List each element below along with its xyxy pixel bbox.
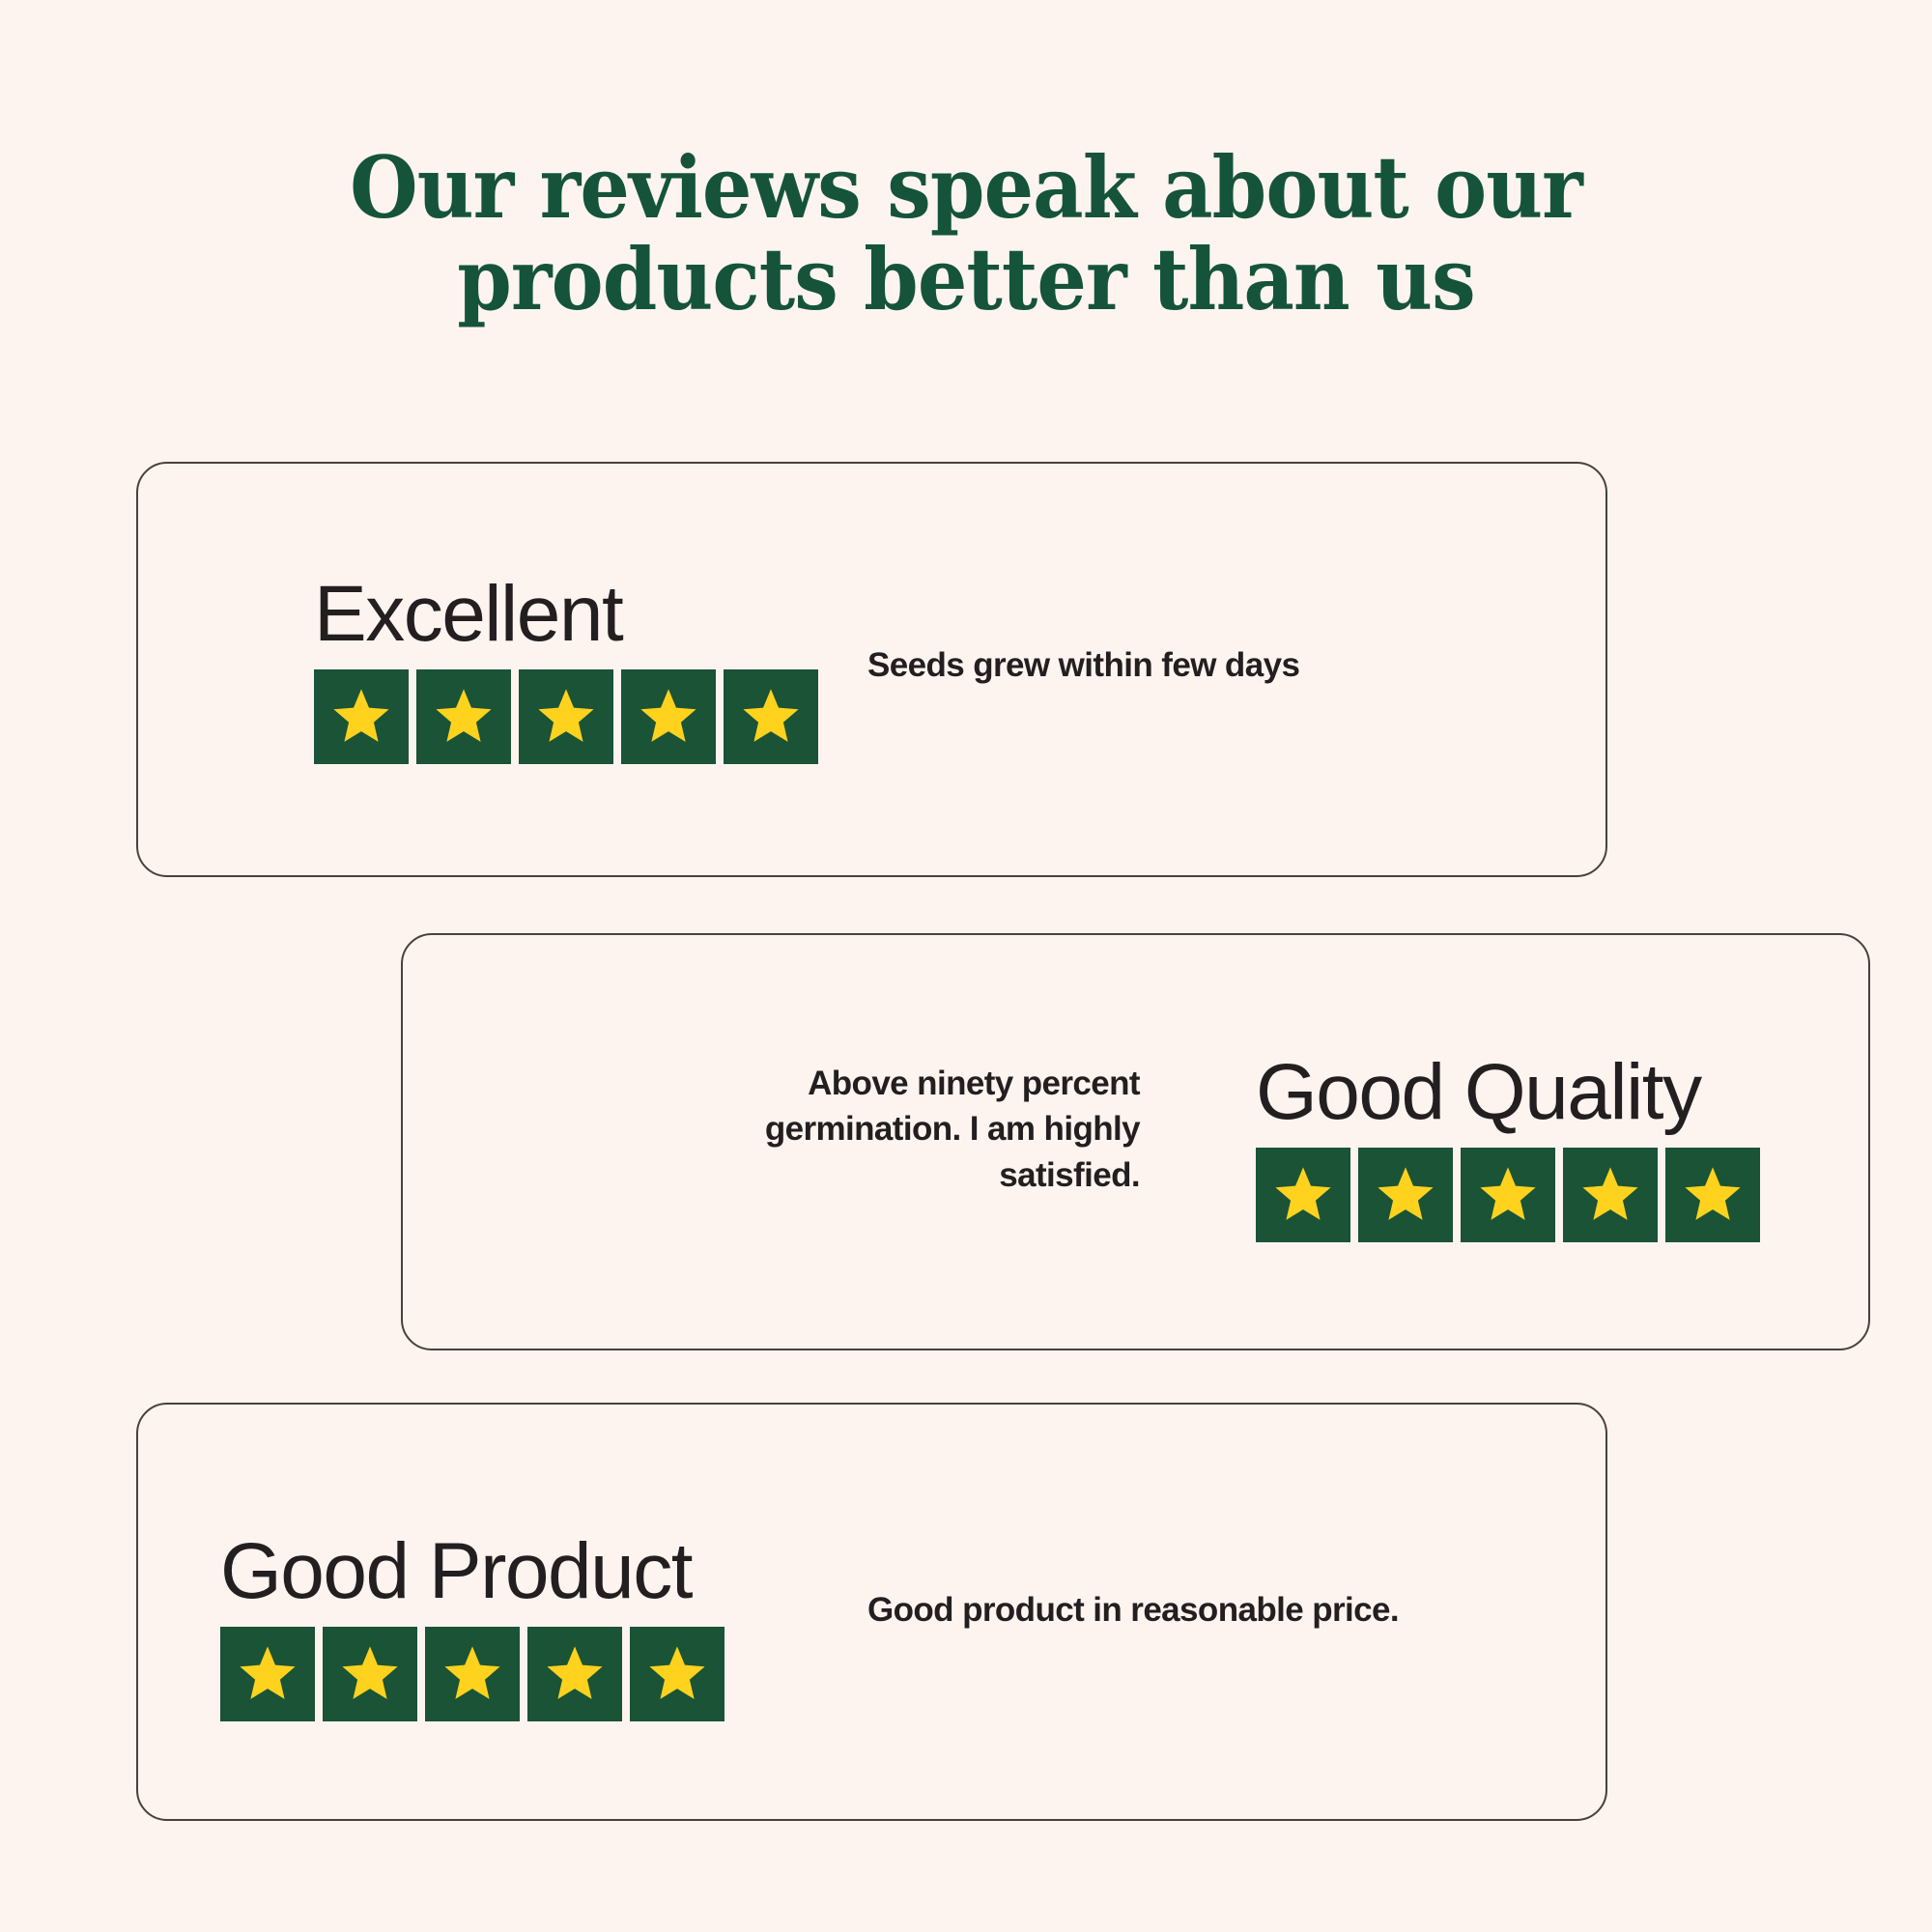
star-icon [527, 1627, 622, 1721]
star-icon [416, 669, 511, 764]
rating-group-good-quality: Good Quality [1256, 1053, 1760, 1242]
star-rating-good-product [220, 1627, 724, 1721]
star-icon [630, 1627, 724, 1721]
page-title-line-1: Our reviews speak about our [77, 142, 1855, 234]
page-title-line-2: products better than us [77, 234, 1855, 326]
star-rating-excellent [314, 669, 818, 764]
page-title: Our reviews speak about our products bet… [77, 142, 1855, 326]
review-text-excellent: Seeds grew within few days [867, 642, 1447, 688]
star-icon [1256, 1148, 1350, 1242]
star-icon [1461, 1148, 1555, 1242]
star-rating-good-quality [1256, 1148, 1760, 1242]
star-icon [1665, 1148, 1760, 1242]
rating-title-good-product: Good Product [220, 1532, 724, 1611]
star-icon [425, 1627, 520, 1721]
star-icon [1563, 1148, 1658, 1242]
star-icon [323, 1627, 417, 1721]
star-icon [1358, 1148, 1453, 1242]
star-icon [621, 669, 716, 764]
rating-group-good-product: Good Product [220, 1532, 724, 1721]
reviews-page: Our reviews speak about our products bet… [0, 0, 1932, 1932]
review-text-good-quality: Above ninety percent germination. I am h… [638, 1061, 1140, 1198]
star-icon [519, 669, 613, 764]
review-text-good-product: Good product in reasonable price. [867, 1587, 1640, 1633]
rating-title-good-quality: Good Quality [1256, 1053, 1760, 1132]
star-icon [220, 1627, 315, 1721]
star-icon [314, 669, 409, 764]
rating-group-excellent: Excellent [314, 575, 818, 764]
rating-title-excellent: Excellent [314, 575, 818, 654]
star-icon [724, 669, 818, 764]
